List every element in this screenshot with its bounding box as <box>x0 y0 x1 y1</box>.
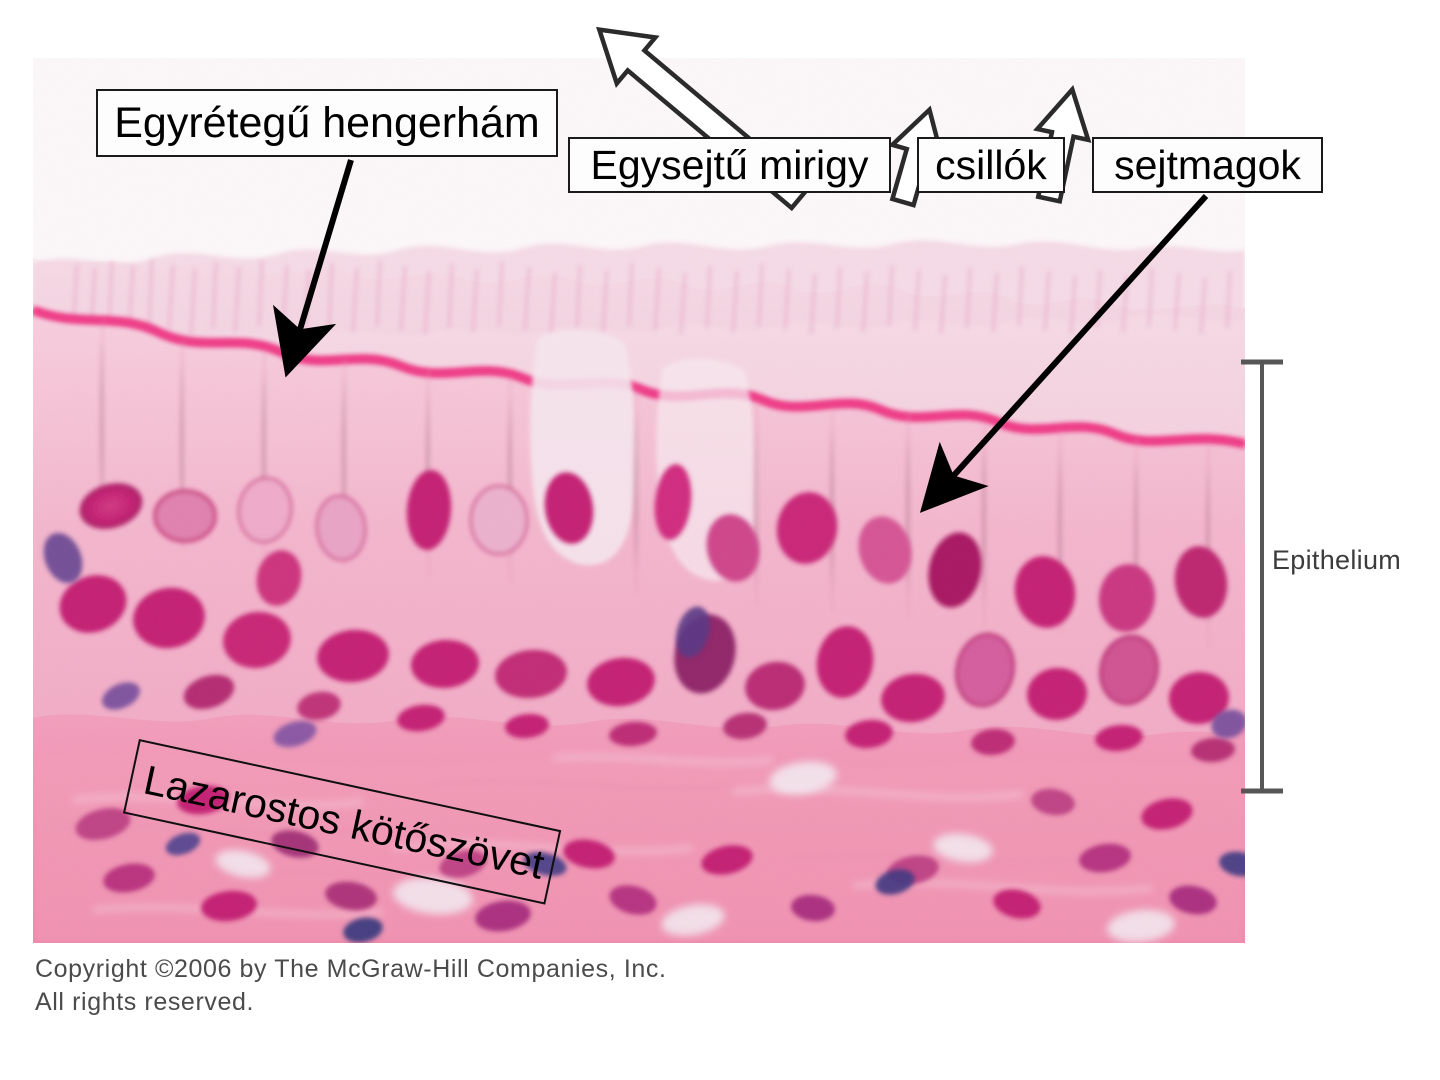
label-box-columnar-epithelium[interactable]: Egyrétegű hengerhám <box>96 89 558 157</box>
label-box-cilia[interactable]: csillók <box>917 137 1065 193</box>
epithelium-bracket <box>1241 361 1283 792</box>
label-box-goblet-cell[interactable]: Egysejtű mirigy <box>568 137 891 193</box>
label-box-nuclei[interactable]: sejtmagok <box>1092 137 1323 193</box>
slide-canvas: Egyrétegű hengerhám Egysejtű mirigy csil… <box>0 0 1440 1080</box>
copyright-line-2: All rights reserved. <box>35 986 667 1019</box>
copyright-notice: Copyright ©2006 by The McGraw-Hill Compa… <box>35 953 667 1019</box>
copyright-line-1: Copyright ©2006 by The McGraw-Hill Compa… <box>35 953 667 986</box>
epithelium-bracket-label: Epithelium <box>1272 545 1401 576</box>
